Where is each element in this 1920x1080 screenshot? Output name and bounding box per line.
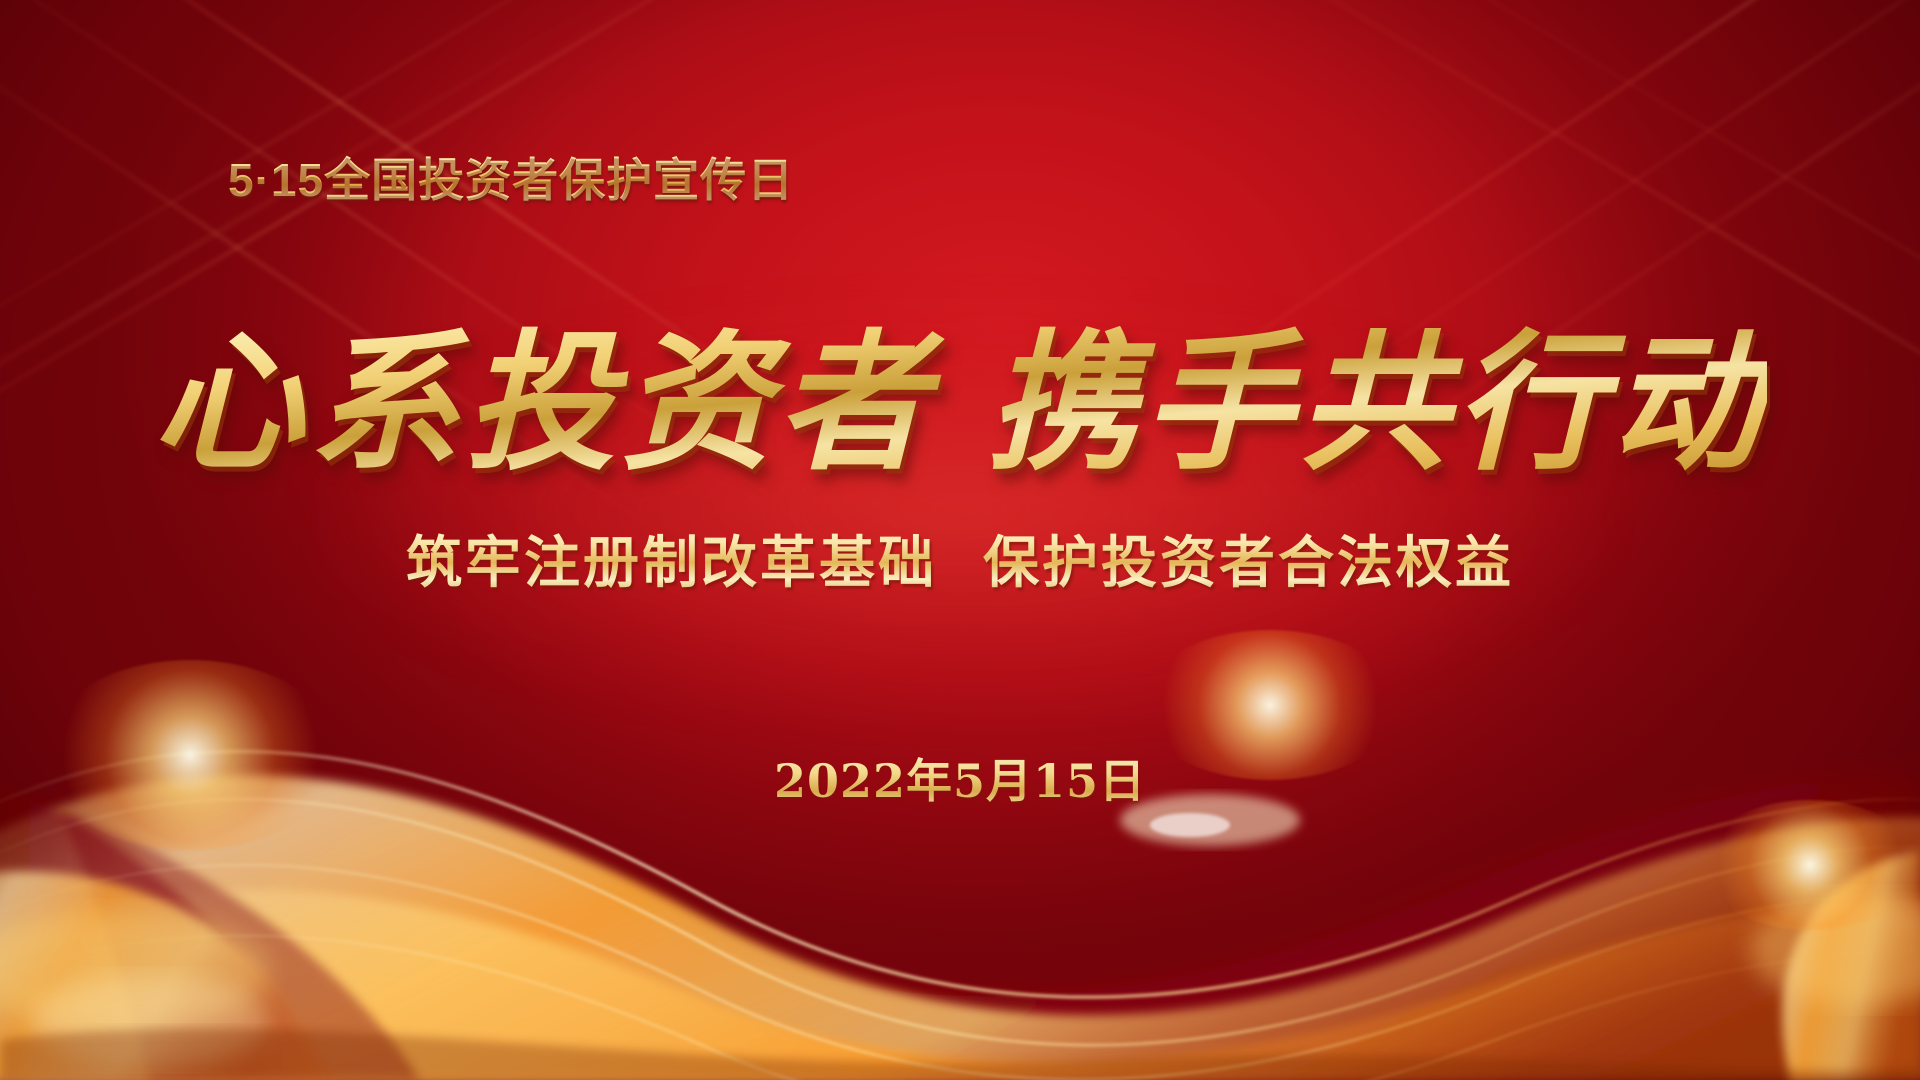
subtitle: 筑牢注册制改革基础保护投资者合法权益 (406, 518, 1514, 599)
main-title-part-2: 携手共行动 (987, 315, 1767, 491)
ribbon-glow-icon (1700, 800, 1920, 930)
main-title-part-1: 心系投资者 (153, 315, 933, 491)
event-date: 2022年5月15日 (774, 745, 1146, 811)
ribbon-glow-icon (40, 660, 340, 850)
poster-canvas: 5·15全国投资者保护宣传日 心系投资者携手共行动 筑牢注册制改革基础保护投资者… (0, 0, 1920, 1080)
subtitle-part-2: 保护投资者合法权益 (983, 531, 1514, 594)
subtitle-part-1: 筑牢注册制改革基础 (406, 531, 937, 594)
ribbon-glow-icon (1140, 630, 1400, 780)
main-title: 心系投资者携手共行动 (153, 282, 1767, 499)
eyebrow-heading: 5·15全国投资者保护宣传日 (228, 144, 794, 210)
